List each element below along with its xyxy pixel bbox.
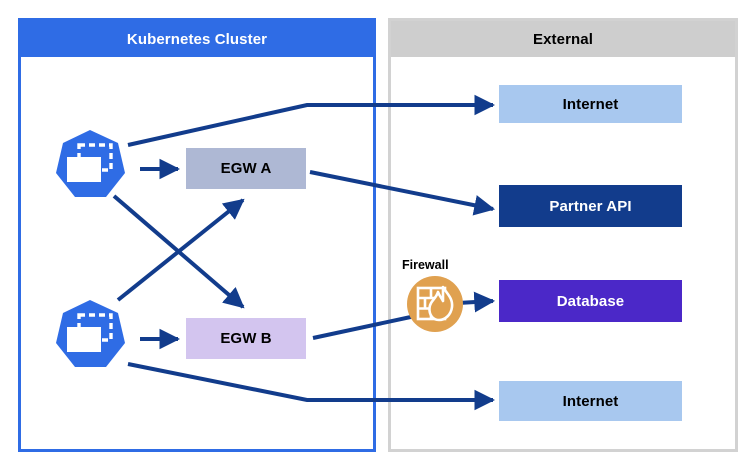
diagram-canvas: Kubernetes Cluster External: [0, 0, 753, 471]
external-title: External: [391, 21, 735, 57]
egress-gateway-a-box[interactable]: EGW A: [186, 148, 306, 189]
kubernetes-cluster-panel: Kubernetes Cluster: [18, 18, 376, 452]
kubernetes-cluster-title: Kubernetes Cluster: [21, 21, 373, 57]
database-box[interactable]: Database: [499, 280, 682, 322]
partner-api-box[interactable]: Partner API: [499, 185, 682, 227]
internet-top-box[interactable]: Internet: [499, 85, 682, 123]
firewall-label: Firewall: [402, 258, 449, 272]
internet-bottom-box[interactable]: Internet: [499, 381, 682, 421]
egress-gateway-b-box[interactable]: EGW B: [186, 318, 306, 359]
